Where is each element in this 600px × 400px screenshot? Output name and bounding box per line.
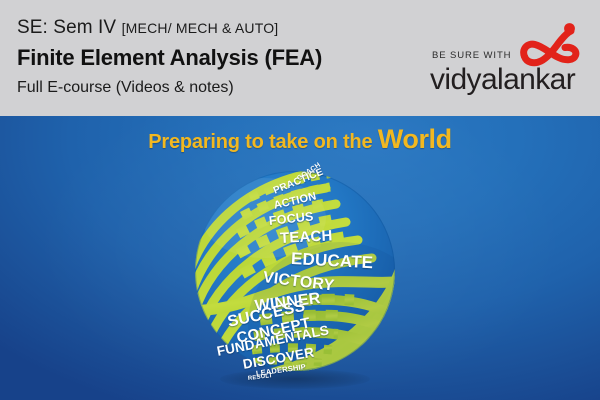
globe-graphic: COACH PRACTICE ACTION FOCUS TEACH EDUCAT… — [190, 164, 400, 386]
banner-hero-panel: Preparing to take on the World — [0, 116, 600, 400]
subject-title: Finite Element Analysis (FEA) — [17, 43, 417, 73]
course-format-label: Full E-course (Videos & notes) — [17, 77, 417, 99]
hero-headline-prefix: Preparing to take on the — [148, 131, 372, 153]
logo-tagline: BE SURE WITH — [432, 50, 511, 61]
course-semester-label: SE: Sem IV — [17, 17, 116, 38]
header-text-block: SE: Sem IV [MECH/ MECH & AUTO] Finite El… — [17, 16, 417, 99]
vidyalankar-bow-mark-icon — [520, 22, 582, 68]
logo-wordmark: vidyalankar — [430, 64, 575, 96]
globe-word-educate: EDUCATE — [290, 249, 373, 273]
hero-headline: Preparing to take on the World — [0, 124, 600, 155]
vidyalankar-logo[interactable]: BE SURE WITH vidyalankar — [424, 22, 584, 96]
course-banner: SE: Sem IV [MECH/ MECH & AUTO] Finite El… — [0, 0, 600, 400]
banner-header: SE: Sem IV [MECH/ MECH & AUTO] Finite El… — [0, 0, 600, 116]
course-branch-label: [MECH/ MECH & AUTO] — [122, 20, 279, 36]
hero-headline-highlight: World — [378, 124, 452, 154]
course-semester-line: SE: Sem IV [MECH/ MECH & AUTO] — [17, 16, 417, 40]
globe-word-teach: TEACH — [280, 227, 333, 247]
